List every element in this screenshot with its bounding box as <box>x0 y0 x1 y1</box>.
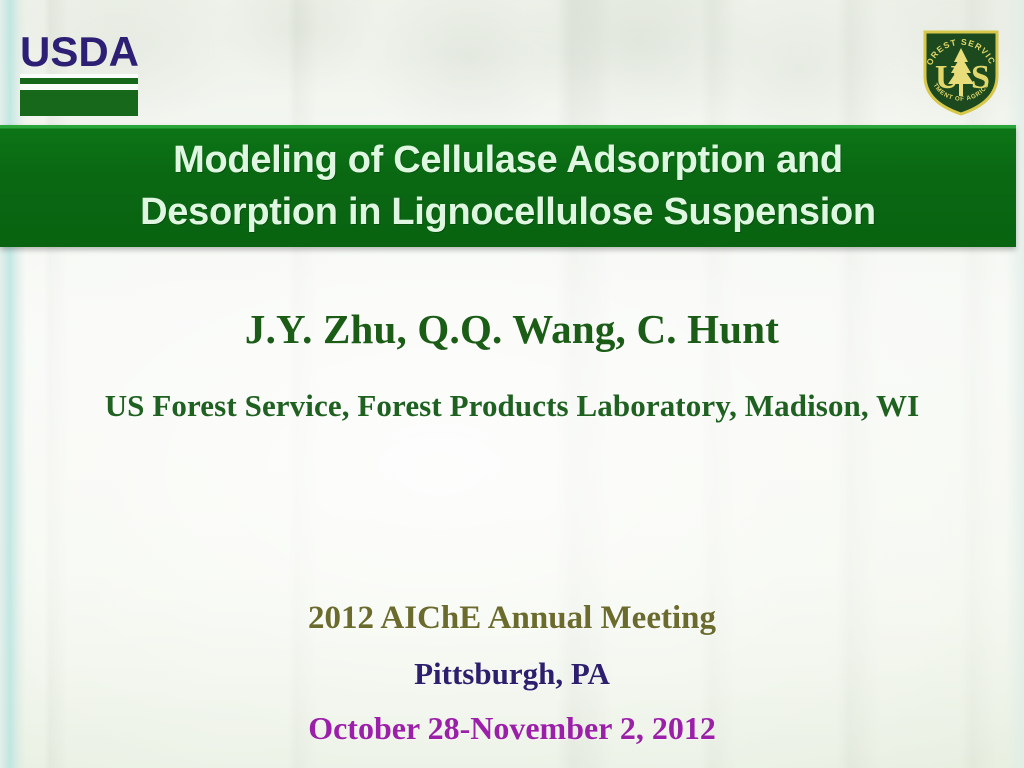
meeting-location: Pittsburgh, PA <box>0 656 1024 692</box>
usda-swoosh-green-2 <box>20 90 138 110</box>
usda-logo: USDA <box>18 30 142 116</box>
title-line-1: Modeling of Cellulase Adsorption and <box>173 134 843 186</box>
title-line-2: Desorption in Lignocellulose Suspension <box>140 186 876 238</box>
meeting-name: 2012 AIChE Annual Meeting <box>0 600 1024 637</box>
affiliation-line: US Forest Service, Forest Products Labor… <box>0 388 1024 424</box>
usda-green-block <box>20 74 138 116</box>
meeting-dates: October 28-November 2, 2012 <box>0 710 1024 747</box>
right-edge-tint <box>1006 0 1024 768</box>
forest-service-shield-icon: FOREST SERVICE U S DEPARTMENT OF AGRICUL… <box>918 26 1004 118</box>
background-wash-overlay <box>0 0 1024 768</box>
title-banner: Modeling of Cellulase Adsorption and Des… <box>0 125 1016 247</box>
authors-line: J.Y. Zhu, Q.Q. Wang, C. Hunt <box>0 305 1024 353</box>
usda-wordmark: USDA <box>20 30 139 74</box>
presentation-slide: USDA FOREST SERVICE U S <box>0 0 1024 768</box>
